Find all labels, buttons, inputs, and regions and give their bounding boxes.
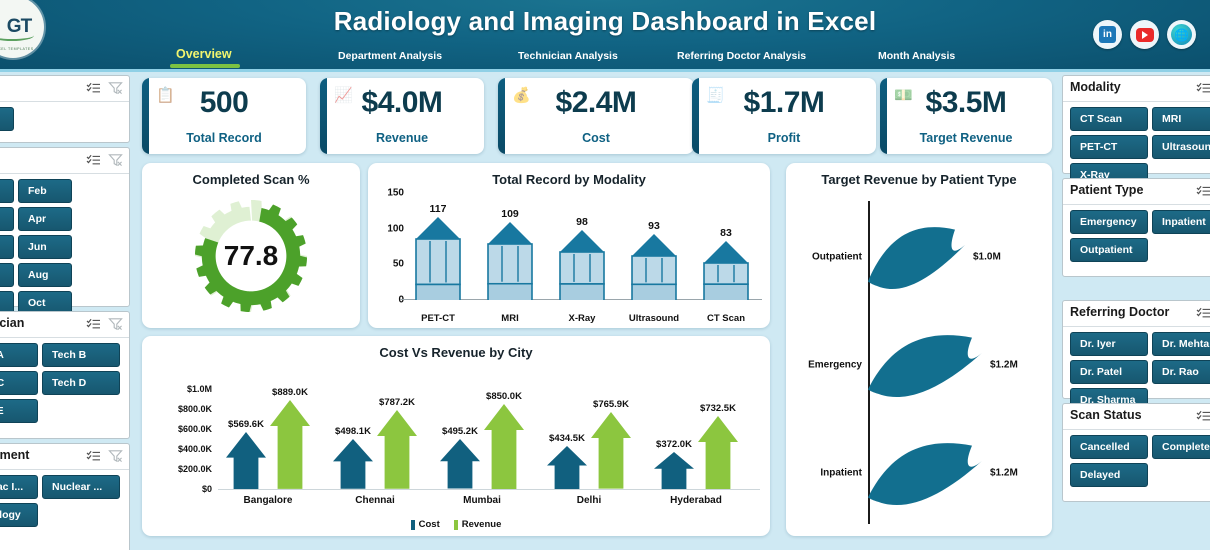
flag-value-label: $1.2M	[990, 468, 1018, 479]
slicer-option-emergency[interactable]: Emergency	[1070, 210, 1148, 234]
city-plot-area: $0$200.0K$400.0K$600.0K$800.0K$1.0M $569…	[142, 336, 770, 536]
slicer-option-tech-d[interactable]: Tech D	[42, 371, 120, 395]
kpi-card-target-revenue: 💵 $3.5M Target Revenue	[880, 78, 1052, 154]
total-record-by-modality-card: Total Record by Modality 050100150 117 P…	[368, 163, 770, 328]
kpi-value: $4.0M	[320, 86, 484, 120]
completed-scan-card: Completed Scan % 77.8	[142, 163, 360, 328]
youtube-button[interactable]	[1130, 20, 1159, 49]
multi-select-icon[interactable]	[1196, 307, 1210, 325]
slicer-options: Cardiac I...Nuclear ...Radiology	[0, 470, 129, 533]
slicer-option-outpatient[interactable]: Outpatient	[1070, 238, 1148, 262]
slicer-option-dr-patel[interactable]: Dr. Patel	[1070, 360, 1148, 384]
city-y-tick: $200.0K	[150, 464, 212, 474]
slicer-option-tech-e[interactable]: Tech E	[0, 399, 38, 423]
slicer-option-jul[interactable]: Jul	[0, 263, 14, 287]
flag-bar-emergency	[868, 327, 986, 403]
modality-chart-title: Total Record by Modality	[368, 172, 770, 187]
city-bar-bangalore-revenue	[270, 400, 310, 489]
slicer-icon-group	[1196, 408, 1210, 428]
modality-bar-value: 117	[430, 203, 447, 215]
city-bar-hyderabad-revenue	[698, 416, 738, 489]
city-bar-chennai-revenue	[377, 410, 417, 489]
flag-icon	[868, 435, 986, 511]
city-bar-value: $850.0K	[486, 391, 522, 402]
modality-category-label: PET-CT	[421, 313, 455, 324]
completed-scan-value: 77.8	[192, 197, 310, 315]
legend-item-revenue: Revenue	[454, 519, 502, 530]
modality-bar-x-ray: 98 X-Ray	[554, 230, 610, 300]
slicer-icon-group	[1196, 305, 1210, 325]
slicer-option-jan[interactable]: Jan	[0, 179, 14, 203]
tab-technician-analysis[interactable]: Technician Analysis	[518, 50, 618, 62]
legend-swatch-revenue	[454, 520, 458, 530]
slicer-option-cancelled[interactable]: Cancelled	[1070, 435, 1148, 459]
slicer-option-pet-ct[interactable]: PET-CT	[1070, 135, 1148, 159]
slicer-option-delayed[interactable]: Delayed	[1070, 463, 1148, 487]
page-title: Radiology and Imaging Dashboard in Excel	[0, 6, 1210, 37]
slicer-option-dr-rao[interactable]: Dr. Rao	[1152, 360, 1210, 384]
kpi-value: $1.7M	[692, 86, 876, 120]
city-bar-delhi-cost	[547, 446, 587, 489]
flag-bar-inpatient	[868, 435, 986, 511]
slicer-header: Year	[0, 76, 129, 102]
arrow-up-icon	[333, 439, 373, 489]
slicer-year: Year 2025	[0, 75, 130, 143]
slicer-option-ct-scan[interactable]: CT Scan	[1070, 107, 1148, 131]
multi-select-icon[interactable]	[86, 82, 101, 100]
slicer-icon-group	[86, 152, 123, 172]
pencil-icon	[410, 217, 466, 300]
clear-filter-icon[interactable]	[108, 81, 123, 100]
tab-referring-doctor-analysis[interactable]: Referring Doctor Analysis	[677, 50, 806, 62]
city-bar-chennai-cost	[333, 439, 373, 489]
kpi-value: $3.5M	[880, 86, 1052, 120]
city-category-label: Delhi	[577, 495, 601, 506]
flag-icon	[868, 327, 986, 403]
youtube-icon	[1136, 28, 1154, 42]
nav-tabs: Overview Department Analysis Technician …	[0, 46, 1210, 72]
modality-y-tick: 150	[387, 188, 404, 199]
city-y-tick: $800.0K	[150, 404, 212, 414]
modality-bar-value: 93	[648, 220, 660, 232]
kpi-value: $2.4M	[498, 86, 694, 120]
slicer-modality: Modality CT ScanMRIPET-CTUltrasoundX-Ray	[1062, 75, 1210, 174]
slicer-option-dr-iyer[interactable]: Dr. Iyer	[1070, 332, 1148, 356]
arrow-up-icon	[547, 446, 587, 489]
city-bar-mumbai-cost	[440, 439, 480, 489]
legend-swatch-cost	[411, 520, 415, 530]
slicer-header: Department	[0, 444, 129, 470]
slicer-option-completed[interactable]: Completed	[1152, 435, 1210, 459]
slicer-option-dr-mehta[interactable]: Dr. Mehta	[1152, 332, 1210, 356]
slicer-option-feb[interactable]: Feb	[18, 179, 72, 203]
flag-value-label: $1.0M	[973, 252, 1001, 263]
city-bar-value: $889.0K	[272, 387, 308, 398]
slicer-option-apr[interactable]: Apr	[18, 207, 72, 231]
flag-category-label: Emergency	[794, 360, 862, 371]
city-chart-legend: Cost Revenue	[142, 519, 770, 530]
completed-scan-title: Completed Scan %	[142, 172, 360, 187]
city-category-label: Chennai	[355, 495, 394, 506]
slicer-icon-group	[86, 80, 123, 100]
city-bar-value: $569.6K	[228, 419, 264, 430]
tab-month-analysis[interactable]: Month Analysis	[878, 50, 955, 62]
city-baseline	[218, 489, 760, 490]
city-bar-value: $495.2K	[442, 426, 478, 437]
target-revenue-by-patient-type-card: Target Revenue by Patient Type Outpatien…	[786, 163, 1052, 536]
modality-category-label: Ultrasound	[629, 313, 679, 324]
slicer-option-tech-b[interactable]: Tech B	[42, 343, 120, 367]
modality-bar-ultrasound: 93 Ultrasound	[626, 234, 682, 300]
slicer-title: Technician	[0, 316, 24, 330]
kpi-card-revenue: 📈 $4.0M Revenue	[320, 78, 484, 154]
kpi-card-profit: 🧾 $1.7M Profit	[692, 78, 876, 154]
slicer-options: CancelledCompletedDelayed	[1063, 430, 1210, 493]
slicer-option-nuclear[interactable]: Nuclear ...	[42, 475, 120, 499]
city-bar-hyderabad-cost	[654, 452, 694, 489]
flag-plot-area: Outpatient$1.0M Emergency$1.2M	[786, 163, 1052, 536]
flag-value-label: $1.2M	[990, 360, 1018, 371]
clear-filter-icon[interactable]	[108, 153, 123, 172]
legend-label-cost: Cost	[419, 519, 440, 530]
clear-filter-icon[interactable]	[108, 317, 123, 336]
pencil-icon	[626, 234, 682, 300]
modality-bar-value: 109	[501, 208, 519, 220]
kpi-label: Target Revenue	[880, 131, 1052, 145]
slicer-title: Scan Status	[1070, 408, 1142, 422]
legend-label-revenue: Revenue	[462, 519, 502, 530]
multi-select-icon[interactable]	[86, 154, 101, 172]
slicer-patient-type: Patient Type EmergencyInpatientOutpatien…	[1062, 178, 1210, 277]
flag-category-label: Outpatient	[794, 252, 862, 263]
modality-bar-pet-ct: 117 PET-CT	[410, 217, 466, 300]
city-bar-value: $434.5K	[549, 433, 585, 444]
slicer-icon-group	[1196, 80, 1210, 100]
slicer-department: Department Cardiac I...Nuclear ...Radiol…	[0, 443, 130, 550]
social-links: in 🌐	[1093, 20, 1196, 49]
slicer-options: EmergencyInpatientOutpatient	[1063, 205, 1210, 268]
slicer-option-may[interactable]: May	[0, 235, 14, 259]
modality-plot-area: 117 PET-CT109 MRI98	[406, 193, 760, 300]
arrow-up-icon	[440, 439, 480, 489]
city-bar-bangalore-cost	[226, 432, 266, 489]
completed-scan-gauge: 77.8	[192, 197, 310, 315]
kpi-label: Revenue	[320, 131, 484, 145]
globe-icon: 🌐	[1171, 24, 1192, 45]
modality-category-label: X-Ray	[569, 313, 596, 324]
tab-overview[interactable]: Overview	[176, 47, 232, 61]
slicer-option-aug[interactable]: Aug	[18, 263, 72, 287]
arrow-up-icon	[226, 432, 266, 489]
modality-y-tick: 50	[393, 259, 404, 270]
arrow-up-icon	[377, 410, 417, 489]
slicer-header: Modality	[1063, 76, 1210, 102]
modality-y-tick: 0	[398, 295, 404, 306]
modality-bar-value: 83	[720, 227, 732, 239]
slicer-title: Patient Type	[1070, 183, 1143, 197]
slicer-header: Month	[0, 148, 129, 174]
city-y-tick: $1.0M	[150, 384, 212, 394]
city-bar-value: $732.5K	[700, 403, 736, 414]
city-bar-value: $787.2K	[379, 397, 415, 408]
city-y-tick: $400.0K	[150, 444, 212, 454]
pencil-icon	[554, 230, 610, 300]
multi-select-icon[interactable]	[1196, 410, 1210, 428]
city-bar-mumbai-revenue	[484, 404, 524, 489]
dashboard-root: GT EXCEL TEMPLATES Radiology and Imaging…	[0, 0, 1210, 550]
kpi-card-total-record: 📋 500 Total Record	[142, 78, 306, 154]
slicer-option-cardiac-i[interactable]: Cardiac I...	[0, 475, 38, 499]
website-button[interactable]: 🌐	[1167, 20, 1196, 49]
arrow-up-icon	[654, 452, 694, 489]
linkedin-button[interactable]: in	[1093, 20, 1122, 49]
modality-category-label: MRI	[501, 313, 518, 324]
city-category-label: Bangalore	[244, 495, 293, 506]
slicer-option-radiology[interactable]: Radiology	[0, 503, 38, 527]
slicer-icon-group	[1196, 183, 1210, 203]
multi-select-icon[interactable]	[86, 318, 101, 336]
multi-select-icon[interactable]	[86, 450, 101, 468]
slicer-options: 2025	[0, 102, 129, 137]
slicer-scan-status: Scan Status CancelledCompletedDelayed	[1062, 403, 1210, 502]
slicer-technician: Technician Tech ATech BTech CTech DTech …	[0, 311, 130, 439]
slicer-referring-doctor: Referring Doctor Dr. IyerDr. MehtaDr. Pa…	[1062, 300, 1210, 399]
kpi-label: Total Record	[142, 131, 306, 145]
kpi-card-cost: 💰 $2.4M Cost	[498, 78, 694, 154]
slicer-header: Patient Type	[1063, 179, 1210, 205]
pencil-icon	[698, 241, 754, 300]
city-bar-delhi-revenue	[591, 412, 631, 489]
slicer-option-inpatient[interactable]: Inpatient	[1152, 210, 1210, 234]
app-header: GT EXCEL TEMPLATES Radiology and Imaging…	[0, 0, 1210, 72]
clear-filter-icon[interactable]	[108, 449, 123, 468]
city-y-tick: $0	[150, 484, 212, 494]
modality-category-label: CT Scan	[707, 313, 745, 324]
modality-bar-mri: 109 MRI	[482, 222, 538, 300]
slicer-icon-group	[86, 448, 123, 468]
slicer-icon-group	[86, 316, 123, 336]
legend-item-cost: Cost	[411, 519, 440, 530]
kpi-label: Profit	[692, 131, 876, 145]
slicer-month: Month JanFebMarAprMayJunJulAugSepOctNovD…	[0, 147, 130, 307]
slicer-option-2025[interactable]: 2025	[0, 107, 14, 131]
slicer-option-mri[interactable]: MRI	[1152, 107, 1210, 131]
slicer-options: Tech ATech BTech CTech DTech E	[0, 338, 129, 429]
tab-department-analysis[interactable]: Department Analysis	[338, 50, 442, 62]
arrow-up-icon	[484, 404, 524, 489]
city-y-tick: $600.0K	[150, 424, 212, 434]
arrow-up-icon	[698, 416, 738, 489]
modality-y-axis: 050100150	[398, 193, 406, 300]
arrow-up-icon	[270, 400, 310, 489]
kpi-value: 500	[142, 86, 306, 120]
slicer-option-tech-c[interactable]: Tech C	[0, 371, 38, 395]
multi-select-icon[interactable]	[1196, 82, 1210, 100]
flag-category-label: Inpatient	[794, 468, 862, 479]
city-bar-value: $372.0K	[656, 439, 692, 450]
flag-icon	[868, 219, 969, 295]
kpi-label: Cost	[498, 131, 694, 145]
cost-vs-revenue-by-city-card: Cost Vs Revenue by City $0$200.0K$400.0K…	[142, 336, 770, 536]
slicer-header: Technician	[0, 312, 129, 338]
slicer-title: Referring Doctor	[1070, 305, 1169, 319]
city-bar-value: $498.1K	[335, 426, 371, 437]
flag-bar-outpatient	[868, 219, 969, 295]
city-category-label: Hyderabad	[670, 495, 722, 506]
slicer-title: Department	[0, 448, 29, 462]
multi-select-icon[interactable]	[1196, 185, 1210, 203]
slicer-option-tech-a[interactable]: Tech A	[0, 343, 38, 367]
slicer-header: Referring Doctor	[1063, 301, 1210, 327]
slicer-option-mar[interactable]: Mar	[0, 207, 14, 231]
city-category-label: Mumbai	[463, 495, 501, 506]
city-bar-value: $765.9K	[593, 399, 629, 410]
modality-y-tick: 100	[387, 223, 404, 234]
pencil-icon	[482, 222, 538, 300]
modality-bar-ct-scan: 83 CT Scan	[698, 241, 754, 300]
modality-bar-value: 98	[576, 216, 588, 228]
slicer-option-ultrasound[interactable]: Ultrasound	[1152, 135, 1210, 159]
slicer-title: Modality	[1070, 80, 1121, 94]
linkedin-icon: in	[1099, 26, 1116, 43]
slicer-option-jun[interactable]: Jun	[18, 235, 72, 259]
arrow-up-icon	[591, 412, 631, 489]
slicer-header: Scan Status	[1063, 404, 1210, 430]
